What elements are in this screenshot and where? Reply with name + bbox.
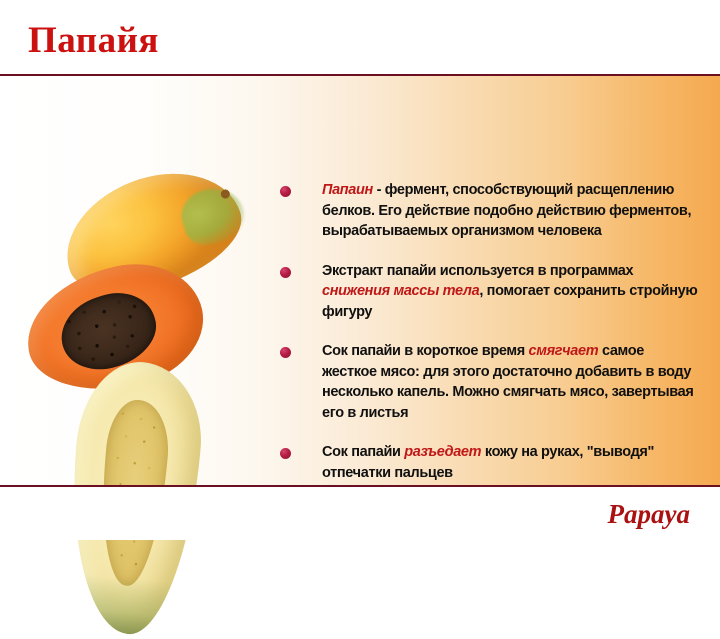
- papaya-green-tip: [175, 180, 251, 251]
- bullet-item-papain-enzyme: Папаин - фермент, способствующий расщепл…: [278, 180, 698, 242]
- bullet-text: Сок папайи в короткое время смягчает сам…: [322, 341, 698, 423]
- papaya-rind: [60, 572, 190, 639]
- presentation-slide: Папайя Папаин - фермент, способствующий …: [0, 0, 720, 540]
- bullet-item-weight-loss: Экстракт папайи используется в программа…: [278, 261, 698, 323]
- bullet-dot-icon: [280, 267, 291, 278]
- bullet-body-text: - фермент, способствующий расщеплению бе…: [322, 182, 691, 239]
- page-title: Папайя: [28, 21, 159, 61]
- bullet-item-meat-tenderizer: Сок папайи в короткое время смягчает сам…: [278, 341, 698, 423]
- bullet-text: Папаин - фермент, способствующий расщепл…: [322, 180, 698, 242]
- bullet-dot-icon: [280, 448, 291, 459]
- bullet-list: Папаин - фермент, способствующий расщепл…: [278, 180, 698, 483]
- footer-band: Papaya: [0, 487, 720, 540]
- bullet-text: Сок папайи разъедает кожу на руках, "выв…: [322, 442, 698, 483]
- bullet-item-skin-effect: Сок папайи разъедает кожу на руках, "выв…: [278, 442, 698, 483]
- bullet-highlight-term: смягчает: [529, 343, 599, 359]
- title-band: Папайя: [0, 0, 720, 74]
- bullet-body-text: Сок папайи в короткое время: [322, 343, 529, 359]
- slide-body: Папаин - фермент, способствующий расщепл…: [0, 76, 720, 485]
- bullet-body-text: Сок папайи: [322, 444, 404, 460]
- footer-latin-name: Papaya: [608, 499, 690, 529]
- bullet-dot-icon: [280, 186, 291, 197]
- bullet-highlight-term: снижения массы тела: [322, 283, 479, 299]
- bullet-dot-icon: [280, 347, 291, 358]
- bullet-highlight-term: Папаин: [322, 182, 373, 198]
- bullet-text: Экстракт папайи используется в программа…: [322, 261, 698, 323]
- bullet-highlight-term: разъедает: [404, 444, 481, 460]
- bullet-body-text: Экстракт папайи используется в программа…: [322, 263, 633, 279]
